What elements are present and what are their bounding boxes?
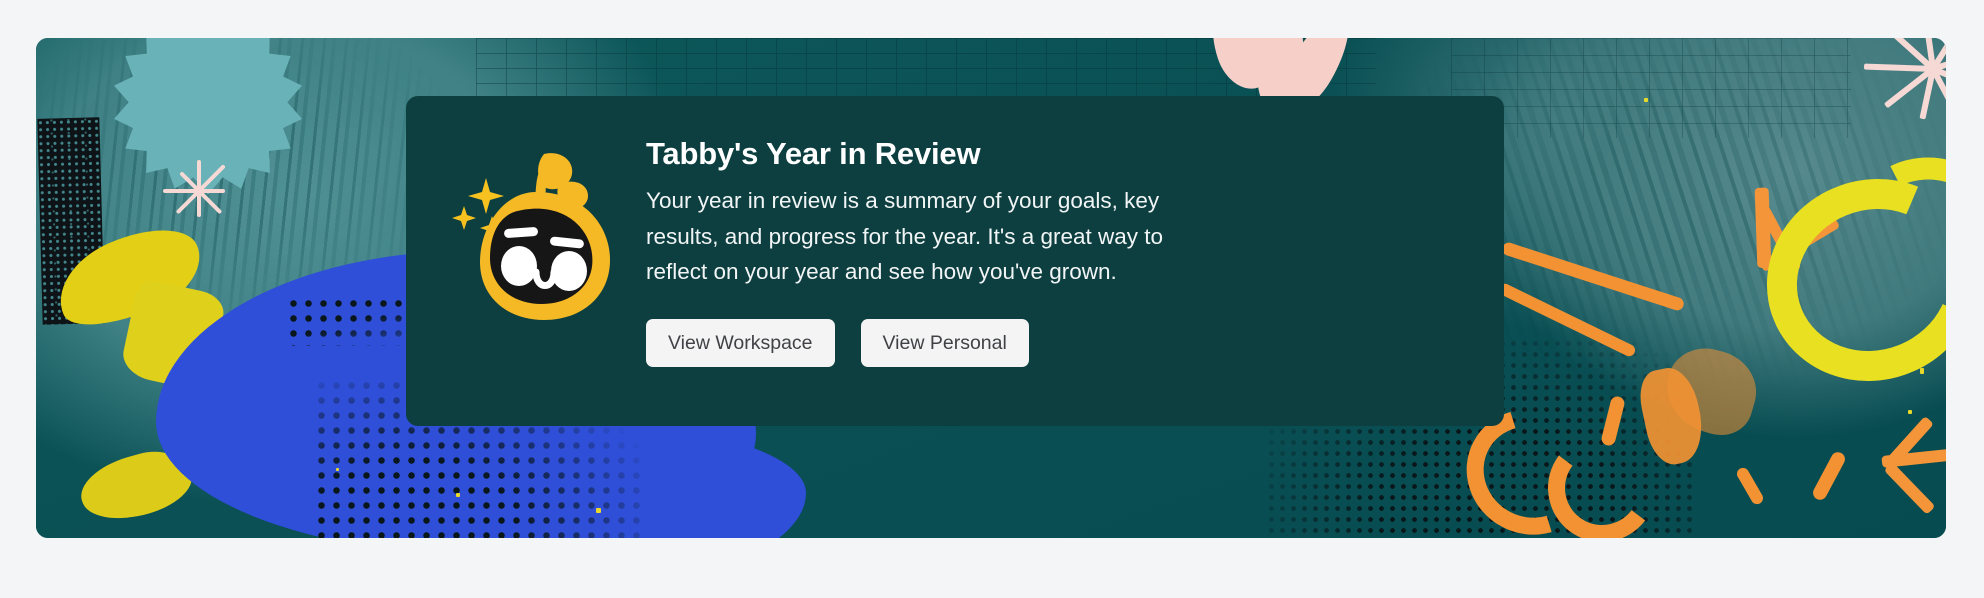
grid-pattern-right-icon bbox=[1451, 38, 1851, 138]
yellow-speck bbox=[1644, 98, 1648, 102]
card-text-column: Tabby's Year in Review Your year in revi… bbox=[646, 96, 1504, 367]
tabby-mascot-icon bbox=[448, 144, 628, 334]
card-description: Your year in review is a summary of your… bbox=[646, 183, 1186, 290]
card-actions: View Workspace View Personal bbox=[646, 319, 1474, 367]
year-in-review-card: Tabby's Year in Review Your year in revi… bbox=[406, 96, 1504, 426]
page-title: Tabby's Year in Review bbox=[646, 137, 1474, 171]
year-in-review-banner: Tabby's Year in Review Your year in revi… bbox=[36, 38, 1946, 538]
mascot-container bbox=[406, 96, 646, 426]
pink-asterisk-icon bbox=[1874, 38, 1946, 128]
yellow-speck bbox=[336, 468, 339, 471]
yellow-speck bbox=[596, 508, 601, 513]
pink-asterisk-icon bbox=[168, 160, 230, 222]
view-workspace-button[interactable]: View Workspace bbox=[646, 319, 835, 367]
view-personal-button[interactable]: View Personal bbox=[861, 319, 1029, 367]
orange-arrow-icon bbox=[1882, 420, 1946, 530]
mascot-eye-left bbox=[501, 246, 537, 286]
yellow-speck bbox=[1908, 410, 1912, 414]
yellow-speck bbox=[456, 493, 460, 497]
yellow-speck bbox=[1920, 368, 1924, 374]
